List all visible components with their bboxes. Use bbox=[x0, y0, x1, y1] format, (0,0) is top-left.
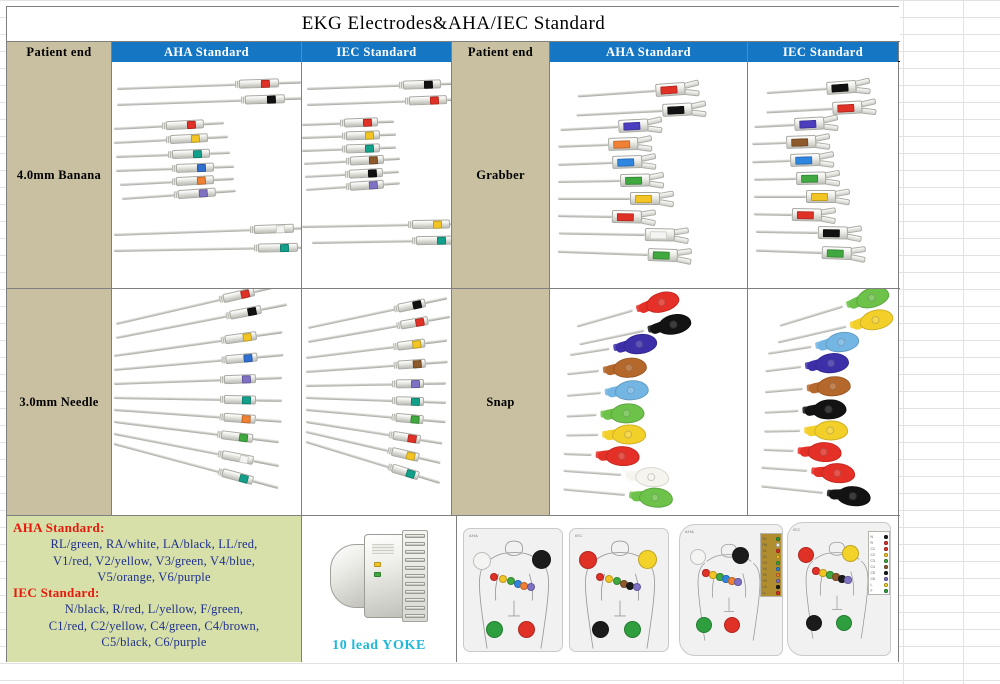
lead-wire-teal-9 bbox=[312, 235, 452, 247]
wire-segment bbox=[564, 452, 592, 455]
color-band-green bbox=[653, 251, 670, 260]
clip-jaw bbox=[684, 82, 698, 94]
legend-entry-label: V6 bbox=[763, 579, 767, 583]
color-band-yellow-8 bbox=[433, 220, 442, 228]
connector-grip bbox=[222, 289, 255, 303]
legend-entry-label: V5 bbox=[763, 573, 767, 577]
plug-pin bbox=[383, 170, 399, 174]
yoke-pin bbox=[405, 574, 425, 578]
clip-jaw bbox=[861, 101, 875, 113]
cell-banana-iec bbox=[302, 62, 452, 288]
legend-entry-swatch bbox=[884, 553, 888, 557]
connector-grip bbox=[346, 143, 380, 153]
legend-iec-line-3: C5/black, C6/purple bbox=[13, 634, 295, 650]
grid-col-line bbox=[963, 0, 964, 684]
clip-jaw bbox=[815, 136, 828, 147]
wire-segment bbox=[306, 408, 396, 418]
color-band-green bbox=[625, 176, 642, 184]
connector-grip bbox=[392, 431, 421, 444]
electrode-R-red bbox=[798, 547, 814, 563]
plug-pin bbox=[384, 157, 400, 161]
wire-segment bbox=[558, 214, 612, 217]
plug-pin bbox=[441, 81, 452, 85]
clip-jaw bbox=[677, 250, 690, 261]
legend-entry-label: L bbox=[871, 583, 873, 587]
lead-wire-brown-5 bbox=[304, 154, 400, 168]
color-band-blue-5 bbox=[197, 163, 206, 171]
wire-segment bbox=[570, 347, 610, 356]
electrode-LA-black bbox=[732, 547, 749, 564]
lead-wire-white-8 bbox=[114, 223, 302, 239]
electrode-N-black bbox=[592, 621, 609, 638]
plug-pin bbox=[423, 418, 445, 423]
snap-stud bbox=[826, 426, 834, 434]
column-header-iec-standard-2: IEC Standard bbox=[302, 42, 452, 62]
yoke-label: 10 lead YOKE bbox=[302, 638, 456, 654]
plug-pin bbox=[378, 119, 394, 123]
plug-pin bbox=[204, 121, 224, 126]
lead-wire-teal-5 bbox=[114, 393, 282, 405]
connector-grip bbox=[223, 413, 256, 424]
electrode-V2-yellow bbox=[499, 575, 507, 583]
wire-segment bbox=[114, 228, 254, 235]
color-band-teal-4 bbox=[365, 144, 374, 152]
wire-segment bbox=[116, 167, 176, 172]
legend-entry-swatch bbox=[884, 583, 888, 587]
yoke-pin bbox=[405, 606, 425, 610]
plug-pin bbox=[420, 438, 442, 445]
grid-row-line bbox=[0, 0, 1000, 1]
wire-segment bbox=[576, 109, 662, 116]
placement-panel-iec-3: IECNRC1C2C3C4C5C6LF bbox=[787, 522, 891, 656]
lead-wire-teal-9 bbox=[114, 242, 302, 255]
legend-entry-label: V1 bbox=[763, 549, 767, 553]
lead-wire-blue-5 bbox=[116, 162, 234, 175]
wire-segment bbox=[754, 123, 794, 128]
legend-entry-label: C4 bbox=[871, 565, 875, 569]
color-band-yellow-3 bbox=[365, 131, 374, 139]
wire-segment bbox=[558, 197, 630, 200]
lead-wire-black-1 bbox=[117, 93, 302, 109]
snap-stud bbox=[624, 430, 632, 438]
wire-segment bbox=[114, 246, 258, 251]
cell-snap-aha bbox=[550, 289, 748, 515]
cell-placement-diagrams: AHAIECAHARLRAV1V2V3V4V5V6LALLIECNRC1C2C3… bbox=[457, 516, 898, 662]
color-band-teal-9 bbox=[280, 243, 289, 251]
legend-entry-swatch bbox=[776, 591, 780, 595]
color-band-yellow bbox=[811, 193, 828, 201]
electrode-L-yellow bbox=[842, 545, 859, 562]
lead-wire-purple-7 bbox=[122, 186, 236, 203]
color-band-white-8 bbox=[238, 454, 248, 464]
color-band-green bbox=[827, 249, 844, 258]
wire-segment bbox=[761, 484, 823, 493]
color-band-purple-4 bbox=[241, 375, 250, 383]
wire-segment bbox=[764, 409, 798, 413]
yoke-pin bbox=[405, 550, 425, 554]
color-band-green-6 bbox=[411, 415, 421, 424]
wire-segment bbox=[756, 230, 818, 234]
color-band-teal-5 bbox=[411, 397, 420, 405]
plug-pin bbox=[424, 381, 446, 385]
color-band-red bbox=[837, 103, 854, 112]
table-row: AHA Standard: RL/green, RA/white, LA/bla… bbox=[7, 516, 900, 662]
legend-entry-label: LL bbox=[763, 591, 767, 595]
legend-entry-swatch bbox=[884, 541, 888, 545]
color-band-purple-4 bbox=[411, 380, 420, 388]
electrode-F-green bbox=[624, 621, 641, 638]
plug-pin bbox=[261, 302, 287, 310]
connector-grip bbox=[221, 468, 254, 485]
clip-jaw bbox=[647, 119, 661, 131]
color-band-green bbox=[801, 174, 818, 182]
lead-wire-teal-4 bbox=[302, 143, 396, 155]
wire-segment bbox=[768, 345, 812, 354]
color-band-violet bbox=[623, 121, 640, 130]
wire-segment bbox=[122, 193, 178, 199]
wire-segment bbox=[752, 141, 786, 145]
grid-row-line bbox=[0, 663, 1000, 664]
plug-pin bbox=[216, 189, 236, 194]
legend-entry-label: C6 bbox=[871, 577, 875, 581]
lead-wire-red-0 bbox=[117, 78, 301, 93]
legend-entry-swatch bbox=[884, 535, 888, 539]
legend-entry-label: LA bbox=[763, 585, 767, 589]
connector-grip bbox=[221, 450, 254, 465]
color-band-red-2 bbox=[187, 120, 196, 128]
legend-entry-swatch bbox=[776, 555, 780, 559]
lead-wire-red-2 bbox=[302, 117, 394, 129]
cell-grabber-aha bbox=[550, 62, 748, 288]
column-header-aha-standard-4: AHA Standard bbox=[550, 42, 748, 62]
connector-grip bbox=[229, 305, 262, 320]
electrode-RL-green bbox=[486, 621, 503, 638]
plug-pin bbox=[424, 400, 446, 404]
column-header-aha-standard-1: AHA Standard bbox=[112, 42, 302, 62]
legend-entry-label: V2 bbox=[763, 555, 767, 559]
wire-segment bbox=[302, 122, 344, 126]
legend-entry-label: F bbox=[871, 589, 873, 593]
connector-grip bbox=[176, 163, 214, 173]
color-band-red bbox=[617, 213, 634, 221]
plug-pin bbox=[253, 479, 279, 489]
wire-segment bbox=[114, 124, 166, 129]
color-band-white-8 bbox=[276, 225, 285, 233]
yoke-label-plate bbox=[372, 544, 394, 554]
color-band-red bbox=[660, 85, 678, 94]
wire-segment bbox=[563, 488, 625, 496]
wire-segment bbox=[558, 143, 608, 147]
electrode-RA-white bbox=[473, 552, 491, 570]
lead-wire-red-1 bbox=[307, 94, 452, 109]
connector-grip bbox=[224, 395, 256, 405]
wire-segment bbox=[306, 396, 396, 402]
clip-jaw bbox=[641, 212, 654, 223]
wire-segment bbox=[114, 338, 225, 356]
legend-entry-swatch bbox=[884, 571, 888, 575]
color-band-yellow-3 bbox=[191, 134, 200, 142]
wire-segment bbox=[306, 364, 398, 373]
color-band-brown-5 bbox=[368, 156, 377, 164]
standards-legend: AHA Standard: RL/green, RA/white, LA/bla… bbox=[7, 516, 302, 662]
electrode-C6-purple bbox=[844, 576, 851, 583]
legend-entry-swatch bbox=[884, 559, 888, 563]
lead-wire-purple-4 bbox=[306, 379, 446, 390]
color-band-red-2 bbox=[363, 118, 372, 126]
clip-jaw bbox=[674, 230, 687, 241]
clip-jaw bbox=[641, 156, 654, 167]
plug-pin bbox=[384, 181, 400, 186]
plug-pin bbox=[380, 132, 396, 136]
legend-entry-label: RA bbox=[763, 543, 768, 547]
legend-entry-swatch bbox=[884, 589, 888, 593]
clip-jaw bbox=[847, 228, 860, 239]
connector-grip bbox=[254, 224, 294, 234]
plug-pin bbox=[256, 418, 282, 423]
color-band-blue-3 bbox=[243, 353, 253, 362]
wire-segment bbox=[754, 195, 806, 198]
cell-banana-aha bbox=[112, 62, 302, 288]
wire-segment bbox=[307, 84, 403, 90]
wire-segment bbox=[302, 134, 346, 138]
clip-jaw bbox=[851, 248, 864, 259]
wire-segment bbox=[306, 382, 396, 386]
electrode-C6-purple bbox=[633, 583, 641, 591]
connector-grip bbox=[176, 175, 214, 186]
lead-wire-purple-7 bbox=[306, 178, 400, 194]
torso-outline bbox=[466, 531, 562, 651]
clip-jaw bbox=[825, 172, 838, 183]
electrode-F-green bbox=[836, 615, 852, 631]
electrode-L-yellow bbox=[638, 550, 657, 569]
clip-jaw bbox=[649, 174, 662, 185]
color-band-black-1 bbox=[246, 306, 256, 316]
wire-segment bbox=[305, 173, 349, 178]
placement-panel-aha-2: AHARLRAV1V2V3V4V5V6LALL bbox=[679, 524, 783, 656]
color-band-black bbox=[667, 105, 684, 114]
wire-segment bbox=[766, 107, 832, 113]
legend-entry-swatch bbox=[776, 573, 780, 577]
legend-entry-swatch bbox=[884, 547, 888, 551]
wire-segment bbox=[117, 99, 245, 106]
connector-grip bbox=[344, 117, 378, 127]
clip-jaw bbox=[659, 193, 672, 204]
lead-wire-red-2 bbox=[114, 118, 224, 133]
yoke-indicator-0 bbox=[374, 562, 381, 567]
color-band-teal-9 bbox=[437, 236, 446, 244]
yoke-pin bbox=[405, 590, 425, 594]
title-band: EKG Electrodes&AHA/IEC Standard bbox=[7, 7, 900, 42]
yoke-pin bbox=[405, 614, 425, 618]
plug-pin bbox=[256, 398, 282, 402]
color-band-brown-3 bbox=[413, 359, 423, 368]
connector-grip bbox=[412, 219, 450, 229]
wire-segment bbox=[764, 448, 794, 452]
electrode-RL-green bbox=[696, 617, 712, 633]
yoke-indicator-1 bbox=[374, 572, 381, 577]
electrode-V6-purple bbox=[527, 583, 535, 591]
yoke-pin bbox=[405, 566, 425, 570]
legend-entry-label: C3 bbox=[871, 559, 875, 563]
legend-aha-line-2: V1/red, V2/yellow, V3/green, V4/blue, bbox=[13, 553, 295, 569]
connector-grip bbox=[245, 94, 285, 104]
connector-grip bbox=[416, 236, 452, 246]
wire-segment bbox=[764, 429, 800, 432]
legend-entry-swatch bbox=[776, 543, 780, 547]
wire-segment bbox=[563, 469, 621, 476]
connector-grip bbox=[170, 133, 208, 144]
wire-segment bbox=[754, 177, 796, 180]
plug-pin bbox=[279, 80, 301, 84]
yoke-pin bbox=[405, 542, 425, 546]
grid-col-line bbox=[903, 0, 904, 684]
wire-segment bbox=[114, 138, 170, 143]
grid-row-line bbox=[0, 680, 1000, 681]
plug-pin bbox=[257, 353, 283, 359]
wire-segment bbox=[558, 161, 612, 165]
wire-segment bbox=[765, 387, 803, 393]
color-band-orange-6 bbox=[241, 414, 251, 423]
color-band-purple-7 bbox=[198, 189, 208, 198]
legend-entry-swatch bbox=[776, 585, 780, 589]
connector-grip bbox=[258, 243, 298, 253]
color-band-black-0 bbox=[424, 80, 433, 88]
column-header-patient-end-3: Patient end bbox=[452, 42, 550, 62]
wire-segment bbox=[566, 433, 598, 436]
clip-jaw bbox=[819, 154, 832, 165]
legend-iec-heading: IEC Standard: bbox=[13, 585, 295, 601]
color-band-orange-6 bbox=[197, 176, 206, 184]
plug-pin bbox=[208, 135, 228, 140]
electrode-C2-yellow bbox=[605, 575, 613, 583]
clip-jaw bbox=[835, 191, 848, 202]
legend-entry-swatch bbox=[884, 577, 888, 581]
connector-grip bbox=[350, 155, 384, 166]
connector-grip bbox=[166, 119, 204, 130]
wire-segment bbox=[566, 413, 596, 417]
wire-segment bbox=[560, 125, 618, 131]
electrode-V1-red bbox=[490, 573, 498, 581]
lead-wire-black-0 bbox=[307, 79, 452, 93]
color-band-black-1 bbox=[267, 95, 276, 103]
lead-wire-teal-5 bbox=[306, 393, 446, 407]
legend-entry-swatch bbox=[776, 567, 780, 571]
wire-segment bbox=[752, 159, 790, 163]
electrode-RA-white bbox=[690, 549, 706, 565]
color-band-yellow-2 bbox=[242, 332, 252, 341]
connector-grip bbox=[224, 374, 256, 384]
color-band-black bbox=[823, 229, 840, 237]
wire-segment bbox=[312, 239, 416, 243]
clip-jaw bbox=[821, 210, 834, 221]
color-band-white bbox=[650, 231, 667, 239]
legend-entry-swatch bbox=[884, 565, 888, 569]
electrode-LA-black bbox=[532, 550, 551, 569]
wire-segment bbox=[120, 180, 176, 185]
legend-entry-swatch bbox=[776, 579, 780, 583]
wire-segment bbox=[306, 345, 398, 359]
lead-wire-yellow-3 bbox=[114, 132, 228, 147]
legend-aha-heading: AHA Standard: bbox=[13, 520, 295, 536]
wire-segment bbox=[756, 249, 822, 254]
wire-segment bbox=[304, 160, 350, 165]
clip-jaw bbox=[823, 117, 837, 129]
wire-segment bbox=[567, 391, 601, 396]
connector-grip bbox=[409, 95, 447, 105]
legend-entry-label: N bbox=[871, 535, 873, 539]
yoke-pin bbox=[405, 534, 425, 538]
wire-segment bbox=[765, 365, 801, 372]
electrode-N-black bbox=[806, 615, 822, 631]
wire-segment bbox=[567, 369, 599, 375]
wire-segment bbox=[116, 153, 172, 157]
wire-segment bbox=[114, 378, 224, 384]
connector-grip bbox=[239, 78, 279, 88]
color-band-purple-7 bbox=[368, 181, 378, 190]
plug-pin bbox=[426, 360, 448, 365]
wire-segment bbox=[558, 250, 648, 256]
plug-pin bbox=[418, 474, 440, 484]
legend-entry-swatch bbox=[776, 537, 780, 541]
legend-iec-line-1: N/black, R/red, L/yellow, F/green, bbox=[13, 601, 295, 617]
legend-entry-label: C2 bbox=[871, 553, 875, 557]
clip-jaw bbox=[855, 80, 869, 92]
cell-needle-aha bbox=[112, 289, 302, 515]
wire-segment bbox=[114, 408, 224, 418]
electrode-C1-red bbox=[596, 573, 604, 581]
lead-wire-yellow-3 bbox=[302, 130, 396, 142]
wire-segment bbox=[754, 212, 792, 215]
connector-grip bbox=[403, 79, 441, 89]
plug-pin bbox=[210, 151, 230, 155]
plug-pin bbox=[256, 330, 282, 337]
plug-pin bbox=[428, 315, 450, 322]
clip-jaw bbox=[691, 103, 705, 115]
wire-segment bbox=[766, 87, 826, 94]
color-band-red-0 bbox=[261, 79, 270, 87]
electrode-LL-red bbox=[518, 621, 535, 638]
wire-segment bbox=[558, 179, 620, 183]
color-band-brown bbox=[791, 138, 808, 147]
wire-segment bbox=[307, 99, 409, 105]
color-band-orange bbox=[613, 140, 630, 149]
color-band-teal-5 bbox=[242, 396, 251, 404]
lead-wire-purple-4 bbox=[114, 373, 282, 388]
wire-segment bbox=[576, 309, 632, 327]
plug-pin bbox=[256, 376, 282, 380]
column-header-patient-end-0: Patient end bbox=[7, 42, 112, 62]
row-label-banana: 4.0mm Banana bbox=[7, 62, 112, 288]
wire-segment bbox=[779, 305, 843, 327]
cell-snap-iec bbox=[748, 289, 898, 515]
legend-entry-label: RL bbox=[763, 537, 767, 541]
color-band-yellow-2 bbox=[412, 339, 422, 348]
legend-aha-line-1: RL/green, RA/white, LA/black, LL/red, bbox=[13, 536, 295, 552]
cell-yoke: 10 lead YOKE bbox=[302, 516, 457, 662]
legend-entry-label: R bbox=[871, 541, 873, 545]
plug-pin bbox=[285, 96, 302, 100]
plug-pin bbox=[253, 437, 279, 444]
legend-aha-line-3: V5/orange, V6/purple bbox=[13, 569, 295, 585]
wire-segment bbox=[306, 185, 350, 191]
connector-grip bbox=[349, 168, 383, 179]
legend-entry-F: F bbox=[869, 588, 889, 594]
wire-segment bbox=[559, 231, 645, 235]
connector-grip bbox=[224, 331, 257, 344]
color-band-red bbox=[797, 211, 814, 219]
clip-jaw bbox=[637, 138, 650, 149]
electrode-R-red bbox=[579, 551, 597, 569]
